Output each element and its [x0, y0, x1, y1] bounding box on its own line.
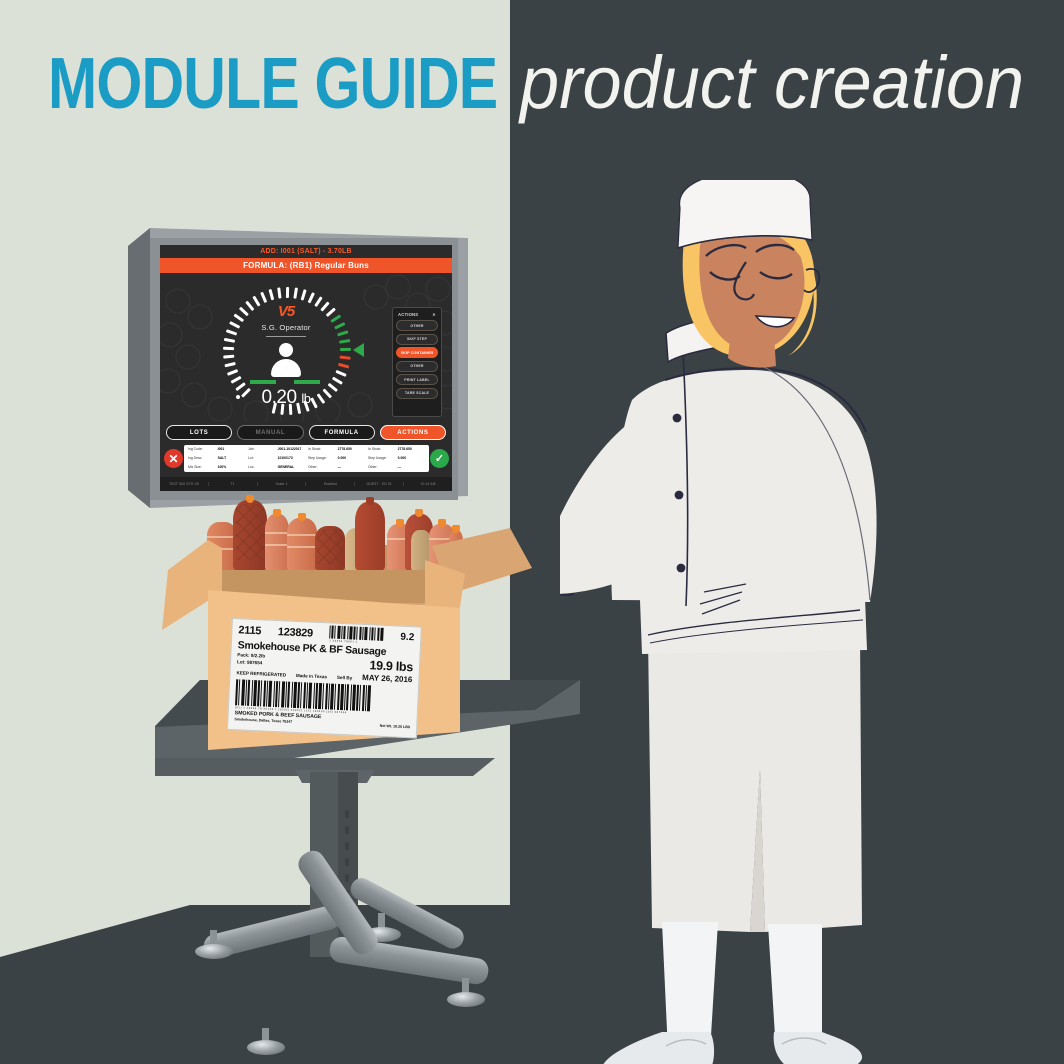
info-row: Mix Size:100% — [188, 466, 245, 469]
sausage-tie — [438, 519, 446, 527]
operator-avatar-head — [279, 343, 293, 357]
sausage-tie — [246, 495, 254, 503]
info-row: Step Usage:0.000 — [308, 457, 365, 460]
monitor-screen[interactable]: ADD: I001 (SALT) - 3.70LB FORMULA: (RB1)… — [160, 245, 452, 477]
info-row: Other:— — [308, 466, 365, 469]
table-foot-back-left — [195, 944, 233, 959]
info-value: I001 — [218, 448, 225, 451]
table-foot-front-left — [247, 1040, 285, 1055]
label-lot: Lot: 987654 — [237, 659, 265, 667]
sausage-tie — [298, 513, 306, 521]
action-button-skip-container[interactable]: SKIP CONTAINER — [396, 347, 438, 358]
action-button-other-1[interactable]: OTHER — [396, 320, 438, 331]
table-foot-front-right — [447, 992, 485, 1007]
info-row: In Stock:2778.650 — [368, 448, 425, 451]
scale-weight-value: 0.20 — [262, 387, 297, 408]
coat-button — [675, 491, 684, 500]
info-column-stock-2: In Stock:2778.650 Step Usage:0.000 Other… — [368, 448, 425, 470]
operator-name: S.G. Operator — [222, 323, 350, 332]
sausage-products — [205, 495, 461, 570]
info-row: Other:— — [368, 466, 425, 469]
gauge-target-arrow — [353, 343, 364, 357]
status-item-time: 10:14 AM — [404, 482, 452, 486]
v5-logo: V5 — [222, 303, 350, 320]
info-key: Other: — [368, 466, 398, 469]
sausage-tie — [366, 497, 374, 505]
info-key: Lot: — [248, 457, 278, 460]
chef-worker-figure — [560, 180, 960, 1064]
label-keep-refrigerated: KEEP REFRIGERATED — [236, 670, 286, 679]
action-button-tare-scale[interactable]: TARE SCALE — [396, 388, 438, 399]
info-row: Loc:GENERAL — [248, 466, 305, 469]
scale-weight-unit: lb — [301, 391, 310, 406]
info-key: Other: — [308, 466, 338, 469]
coat-button — [677, 564, 686, 573]
info-key: Ing Code: — [188, 448, 218, 451]
actions-panel[interactable]: ACTIONS ✕ OTHER SKIP STEP SKIP CONTAINER… — [392, 307, 442, 417]
info-key: Mix Size: — [188, 466, 218, 469]
nav-button-actions[interactable]: ACTIONS — [380, 425, 446, 440]
info-value: SALT — [218, 457, 227, 460]
info-row: Step Usage:0.000 — [368, 457, 425, 460]
info-value: — — [398, 466, 401, 469]
info-key: Ing Desc: — [188, 457, 218, 460]
barcode-bars-small — [329, 625, 384, 640]
status-item-system: TEST ING SYS V5 — [160, 482, 209, 486]
product-label: 2115 123829 1 23456 78901 2 9.2 Smokeho — [227, 618, 422, 739]
page-title-module-guide: MODULE GUIDE — [48, 48, 497, 120]
sausage-tie — [452, 525, 460, 533]
actions-panel-title: ACTIONS — [398, 312, 418, 317]
chef-shoes — [602, 1032, 862, 1064]
info-column-stock-1: In Stock:2778.650 Step Usage:0.000 Other… — [308, 448, 365, 470]
reject-button[interactable]: ✕ — [164, 449, 183, 468]
info-key: Job: — [248, 448, 278, 451]
info-row: Job:J001-10122017 — [248, 448, 305, 451]
info-key: In Stock: — [368, 448, 398, 451]
label-footer-netwt: Net Wt. 18.25 LBS — [380, 724, 411, 729]
sausage-netting — [236, 504, 265, 560]
formula-bar: FORMULA: (RB1) Regular Buns — [160, 258, 452, 273]
sausage-item — [355, 502, 385, 570]
info-value: 10100173 — [278, 457, 293, 460]
scale-weight-readout: 0.20 lb — [214, 387, 358, 409]
page-subtitle-product-creation: product creation — [520, 46, 1024, 120]
action-button-print-label[interactable]: PRINT LABEL — [396, 374, 438, 385]
info-row: Ing Desc:SALT — [188, 457, 245, 460]
sausage-item — [315, 526, 345, 570]
actions-panel-header: ACTIONS ✕ — [396, 311, 438, 320]
add-instruction-bar: ADD: I001 (SALT) - 3.70LB — [160, 245, 452, 258]
info-row: In Stock:2778.650 — [308, 448, 365, 451]
info-column-job: Job:J001-10122017 Lot:10100173 Loc:GENER… — [248, 448, 305, 470]
info-row: Lot:10100173 — [248, 457, 305, 460]
progress-bar-left — [250, 380, 276, 384]
monitor-status-bar: TEST ING SYS V5 T1 Scale 1 Enabled GUEST… — [160, 477, 452, 491]
nav-button-formula[interactable]: FORMULA — [309, 425, 375, 440]
info-row: Ing Code:I001 — [188, 448, 245, 451]
info-key: Step Usage: — [368, 457, 398, 460]
nav-button-manual[interactable]: MANUAL — [237, 425, 303, 440]
label-origin: Made in Texas — [296, 673, 327, 681]
info-value: 100% — [218, 466, 227, 469]
info-value: — — [338, 466, 341, 469]
label-sellby-date: MAY 26, 2016 — [362, 673, 413, 684]
scale-gauge: V5 S.G. Operator 0.20 lb — [222, 287, 350, 415]
accept-button[interactable]: ✓ — [430, 449, 449, 468]
label-barcode-small: 1 23456 78901 2 — [329, 625, 384, 644]
screen-nav-bar[interactable]: LOTS MANUAL FORMULA ACTIONS — [166, 425, 446, 440]
coat-button — [673, 414, 682, 423]
label-pack-lot: Pack: 9/2.2lb Lot: 987654 — [237, 653, 265, 668]
info-value: GENERAL — [278, 466, 295, 469]
operator-avatar-body — [271, 359, 301, 377]
info-value: 0.000 — [338, 457, 347, 460]
info-value: J001-10122017 — [278, 448, 302, 451]
action-button-other-2[interactable]: OTHER — [396, 361, 438, 372]
label-net-weight: 19.9 lbs — [369, 658, 413, 674]
sausage-item — [265, 514, 289, 570]
status-item-user: GUEST : SG 01 — [355, 482, 404, 486]
info-value: 2778.650 — [398, 448, 412, 451]
status-item-terminal: T1 — [209, 482, 258, 486]
info-column-ingredient: Ing Code:I001 Ing Desc:SALT Mix Size:100… — [188, 448, 245, 470]
sausage-tie — [273, 509, 281, 517]
action-button-skip-step[interactable]: SKIP STEP — [396, 334, 438, 345]
chef-trousers — [648, 635, 862, 932]
sausage-netting — [317, 529, 342, 564]
info-value: 2778.650 — [338, 448, 352, 451]
scene-root: MODULE GUIDE product creation ADD: I0 — [0, 0, 1064, 1064]
label-sellby-caption: Sell By — [337, 675, 353, 683]
label-item-code: 123829 — [278, 626, 313, 640]
label-weight-code: 9.2 — [400, 632, 414, 644]
info-key: Loc: — [248, 466, 278, 469]
info-value: 0.000 — [398, 457, 407, 460]
nav-button-lots[interactable]: LOTS — [166, 425, 232, 440]
status-item-state: Enabled — [306, 482, 355, 486]
ingredient-info-card: Ing Code:I001 Ing Desc:SALT Mix Size:100… — [184, 445, 429, 472]
info-key: In Stock: — [308, 448, 338, 451]
info-key: Step Usage: — [308, 457, 338, 460]
sausage-tie — [415, 509, 423, 517]
chef-waist-wrap — [640, 598, 867, 654]
close-icon[interactable]: ✕ — [432, 312, 436, 317]
sausage-item — [233, 500, 267, 570]
progress-bar-right — [294, 380, 320, 384]
label-plant-code: 2115 — [238, 624, 261, 637]
sausage-tie — [396, 519, 404, 527]
status-item-scale: Scale 1 — [258, 482, 307, 486]
sausage-item — [287, 518, 317, 570]
operator-divider — [266, 336, 306, 337]
